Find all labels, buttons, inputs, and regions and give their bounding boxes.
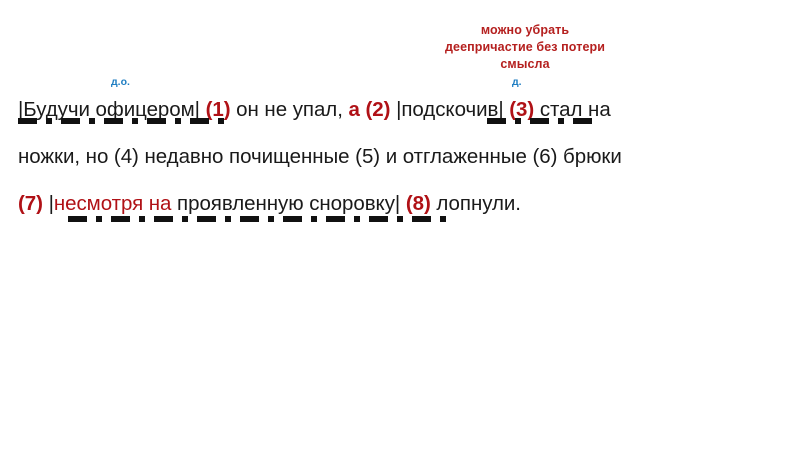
sentence-token: он не упал, bbox=[231, 98, 349, 121]
sentence-token: (8) bbox=[406, 192, 431, 215]
underline-dot bbox=[397, 216, 403, 222]
underline-dash bbox=[104, 118, 123, 124]
underline-adverbial-phrase-1 bbox=[18, 118, 248, 125]
annotation-line-1: можно убрать bbox=[400, 22, 650, 39]
underline-dot bbox=[175, 118, 181, 124]
underline-dash bbox=[487, 118, 506, 124]
underline-dot bbox=[225, 216, 231, 222]
underline-dash bbox=[147, 118, 166, 124]
underline-dash bbox=[326, 216, 345, 222]
sentence-line-2: ножки, но (4) недавно почищенные (5) и о… bbox=[18, 133, 784, 180]
underline-dash bbox=[68, 216, 87, 222]
sentence-token: лопнули. bbox=[431, 192, 521, 215]
underline-dot bbox=[96, 216, 102, 222]
underline-dot bbox=[218, 118, 224, 124]
underline-dash bbox=[111, 216, 130, 222]
underline-dot bbox=[132, 118, 138, 124]
underline-dash bbox=[154, 216, 173, 222]
sentence-token: несмотря на bbox=[54, 192, 177, 215]
underline-adverbial-phrase-3 bbox=[68, 216, 464, 223]
underline-dash bbox=[61, 118, 80, 124]
underline-dash bbox=[412, 216, 431, 222]
sentence-token: проявленную сноровку bbox=[177, 192, 395, 215]
sentence-token: а bbox=[349, 98, 360, 121]
underline-dash bbox=[530, 118, 549, 124]
slide-canvas: можно убрать деепричастие без потери смы… bbox=[0, 0, 800, 450]
underline-dot bbox=[268, 216, 274, 222]
sentence-token: (7) bbox=[18, 192, 43, 215]
annotation-line-2: деепричастие без потери bbox=[400, 39, 650, 56]
underline-dot bbox=[46, 118, 52, 124]
underline-dash bbox=[190, 118, 209, 124]
underline-dot bbox=[311, 216, 317, 222]
underline-dash bbox=[18, 118, 37, 124]
underline-adverbial-phrase-2 bbox=[487, 118, 603, 125]
sentence-token: ножки, но (4) недавно почищенные (5) и о… bbox=[18, 145, 622, 168]
underline-dot bbox=[89, 118, 95, 124]
underline-dot bbox=[515, 118, 521, 124]
underline-dot bbox=[182, 216, 188, 222]
sentence-line-1: |Будучи офицером| (1) он не упал, а (2) … bbox=[18, 86, 784, 133]
underline-dot bbox=[558, 118, 564, 124]
underline-dot bbox=[440, 216, 446, 222]
annotation-line-3: смысла bbox=[400, 56, 650, 73]
underline-dash bbox=[283, 216, 302, 222]
underline-dash bbox=[197, 216, 216, 222]
underline-dot bbox=[139, 216, 145, 222]
underline-dash bbox=[369, 216, 388, 222]
sentence-block: |Будучи офицером| (1) он не упал, а (2) … bbox=[18, 86, 784, 227]
annotation-note: можно убрать деепричастие без потери смы… bbox=[400, 22, 650, 73]
sentence-token: (2) bbox=[366, 98, 391, 121]
underline-dash bbox=[573, 118, 592, 124]
underline-dash bbox=[240, 216, 259, 222]
underline-dot bbox=[354, 216, 360, 222]
